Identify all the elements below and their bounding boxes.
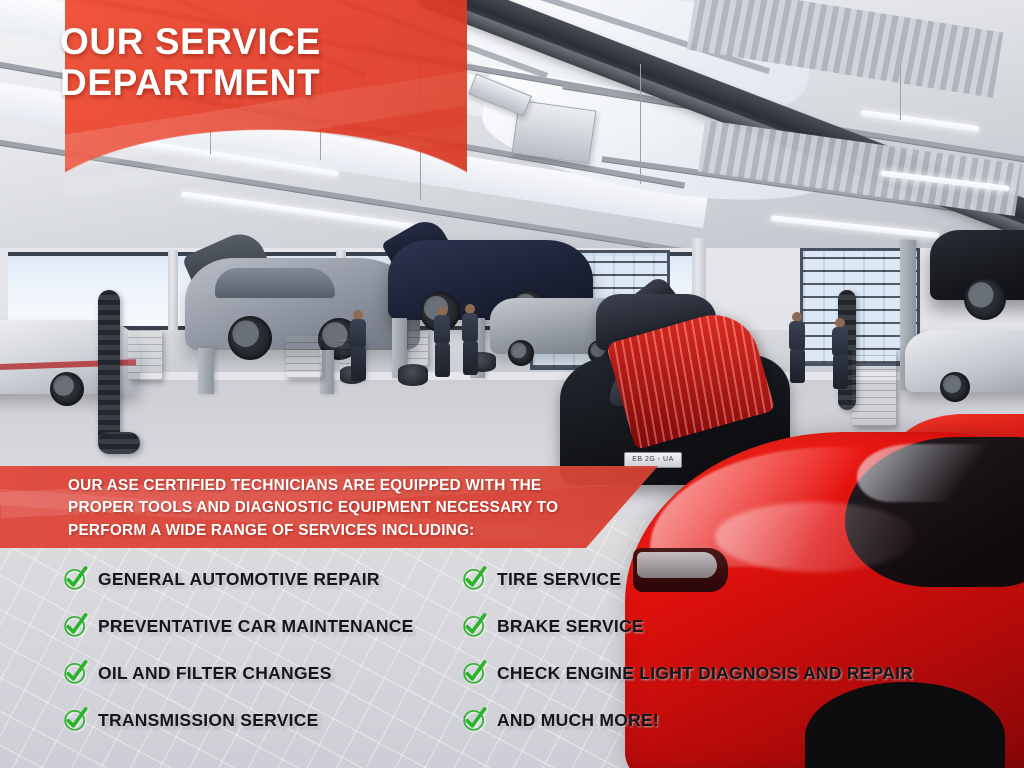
check-circle-icon [62, 614, 87, 639]
list-item-label: CHECK ENGINE LIGHT DIAGNOSIS AND REPAIR [497, 663, 913, 684]
list-item[interactable]: GENERAL AUTOMOTIVE REPAIR [62, 556, 462, 603]
window-band [8, 252, 168, 330]
services-column-right: TIRE SERVICE BRAKE SERVICE CHECK ENGINE … [461, 556, 1006, 744]
list-item-label: OIL AND FILTER CHANGES [98, 663, 332, 684]
vehicle-lift-post [320, 350, 334, 394]
list-item-label: AND MUCH MORE! [497, 710, 659, 731]
ceiling-light-tube [770, 215, 940, 239]
intro-paragraph: OUR ASE CERTIFIED TECHNICIANS ARE EQUIPP… [68, 475, 628, 542]
list-item[interactable]: TRANSMISSION SERVICE [62, 697, 462, 744]
check-circle-icon [461, 708, 486, 733]
list-item[interactable]: OIL AND FILTER CHANGES [62, 650, 462, 697]
page-title: OUR SERVICE DEPARTMENT [60, 21, 400, 104]
check-circle-icon [461, 567, 486, 592]
title-line-2: DEPARTMENT [60, 62, 400, 103]
car-wheel [508, 340, 534, 366]
light-hanger [640, 64, 641, 184]
car-wheel [964, 278, 1006, 320]
car-wheel [228, 316, 272, 360]
list-item-label: BRAKE SERVICE [497, 616, 644, 637]
exhaust-hose-elbow [98, 432, 140, 454]
list-item[interactable]: PREVENTATIVE CAR MAINTENANCE [62, 603, 462, 650]
vehicle-lift-post [198, 348, 214, 394]
ceiling-light-tube [860, 110, 980, 133]
list-item[interactable]: AND MUCH MORE! [461, 697, 1006, 744]
services-column-left: GENERAL AUTOMOTIVE REPAIR PREVENTATIVE C… [62, 556, 462, 744]
poster-canvas: EB 2G - UA OUR SERVICE DEPARTMENT OUR AS… [0, 0, 1024, 768]
check-circle-icon [461, 614, 486, 639]
title-line-1: OUR SERVICE [60, 21, 321, 62]
intro-line-1: OUR ASE CERTIFIED TECHNICIANS ARE EQUIPP… [68, 475, 628, 497]
light-hanger [900, 66, 901, 120]
list-item[interactable]: TIRE SERVICE [461, 556, 1006, 603]
intro-line-3: PERFORM A WIDE RANGE OF SERVICES INCLUDI… [68, 520, 628, 542]
list-item-label: GENERAL AUTOMOTIVE REPAIR [98, 569, 380, 590]
list-item-label: TRANSMISSION SERVICE [98, 710, 319, 731]
tyre-on-floor [398, 364, 428, 386]
check-circle-icon [62, 567, 87, 592]
list-item[interactable]: BRAKE SERVICE [461, 603, 1006, 650]
red-tool-chest [128, 330, 162, 380]
services-checklist: GENERAL AUTOMOTIVE REPAIR PREVENTATIVE C… [0, 556, 1024, 736]
check-circle-icon [62, 708, 87, 733]
red-tool-chest [408, 330, 428, 366]
red-tool-chest [286, 336, 322, 378]
exhaust-extraction-hose [98, 290, 120, 450]
check-circle-icon [461, 661, 486, 686]
car-glass [215, 268, 335, 298]
list-item-label: TIRE SERVICE [497, 569, 621, 590]
list-item-label: PREVENTATIVE CAR MAINTENANCE [98, 616, 414, 637]
car-wheel [50, 372, 84, 406]
list-item[interactable]: CHECK ENGINE LIGHT DIAGNOSIS AND REPAIR [461, 650, 1006, 697]
intro-line-2: PROPER TOOLS AND DIAGNOSTIC EQUIPMENT NE… [68, 497, 628, 519]
check-circle-icon [62, 661, 87, 686]
